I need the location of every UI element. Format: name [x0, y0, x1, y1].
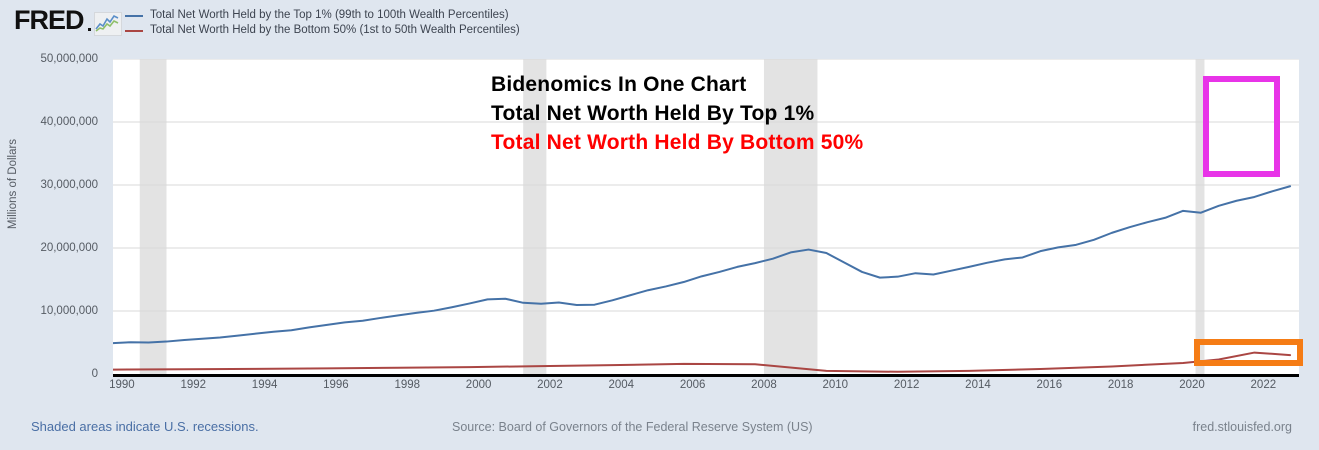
fred-chart-page: FRED Total Net Worth Held by the Top 1% … [0, 0, 1319, 450]
recession-note: Shaded areas indicate U.S. recessions. [31, 419, 259, 434]
x-axis-tick-label: 2014 [965, 378, 991, 392]
chart-legend: Total Net Worth Held by the Top 1% (99th… [125, 9, 520, 39]
x-axis-tick-label: 2000 [466, 378, 492, 392]
x-axis-tick-label: 2004 [608, 378, 634, 392]
x-axis-tick-label: 1990 [109, 378, 135, 392]
top-1-percent-surge-box [1203, 76, 1280, 177]
x-axis-tick-label: 2002 [537, 378, 563, 392]
x-axis-tick-label: 1998 [394, 378, 420, 392]
bottom-50-percent-box [1194, 339, 1303, 366]
y-axis-tick-label: 10,000,000 [0, 305, 106, 317]
x-axis: 1990199219941996199820002002200420062008… [113, 378, 1299, 398]
source-note: Source: Board of Governors of the Federa… [452, 420, 813, 434]
x-axis-line [113, 374, 1299, 377]
x-axis-tick-label: 2016 [1037, 378, 1063, 392]
x-axis-tick-label: 2022 [1251, 378, 1277, 392]
y-axis-tick-label: 50,000,000 [0, 53, 106, 65]
legend-swatch-top-1-percent [125, 15, 143, 17]
x-axis-tick-label: 1994 [252, 378, 278, 392]
series-line-top-1-percent [113, 186, 1290, 343]
x-axis-tick-label: 1992 [180, 378, 206, 392]
annotation-line-2: Total Net Worth Held By Top 1% [491, 99, 863, 128]
recession-band-1 [140, 59, 167, 374]
series-line-bottom-50-percent [113, 353, 1290, 372]
y-axis-tick-label: 0 [0, 368, 106, 380]
x-axis-tick-label: 1996 [323, 378, 349, 392]
legend-label-bottom-50-percent: Total Net Worth Held by the Bottom 50% (… [150, 24, 520, 37]
chart-footer: Shaded areas indicate U.S. recessions. S… [0, 406, 1319, 450]
x-axis-tick-label: 2020 [1179, 378, 1205, 392]
legend-label-top-1-percent: Total Net Worth Held by the Top 1% (99th… [150, 9, 509, 22]
fred-logo-text: FRED [14, 7, 84, 34]
chart-annotation: Bidenomics In One Chart Total Net Worth … [491, 70, 863, 157]
legend-item-top-1-percent[interactable]: Total Net Worth Held by the Top 1% (99th… [125, 9, 520, 22]
annotation-line-3: Total Net Worth Held By Bottom 50% [491, 128, 863, 157]
fred-logo-dot [88, 28, 91, 31]
legend-swatch-bottom-50-percent [125, 30, 143, 32]
annotation-line-1: Bidenomics In One Chart [491, 70, 863, 99]
x-axis-tick-label: 2008 [751, 378, 777, 392]
fred-logo[interactable]: FRED [14, 6, 119, 36]
x-axis-tick-label: 2018 [1108, 378, 1134, 392]
chart-header: FRED Total Net Worth Held by the Top 1% … [0, 0, 1319, 44]
y-axis-label: Millions of Dollars [7, 109, 19, 259]
fred-site-link[interactable]: fred.stlouisfed.org [1193, 420, 1292, 434]
x-axis-tick-label: 2010 [823, 378, 849, 392]
sparkline-icon [94, 12, 122, 36]
legend-item-bottom-50-percent[interactable]: Total Net Worth Held by the Bottom 50% (… [125, 24, 520, 37]
x-axis-tick-label: 2012 [894, 378, 920, 392]
x-axis-tick-label: 2006 [680, 378, 706, 392]
